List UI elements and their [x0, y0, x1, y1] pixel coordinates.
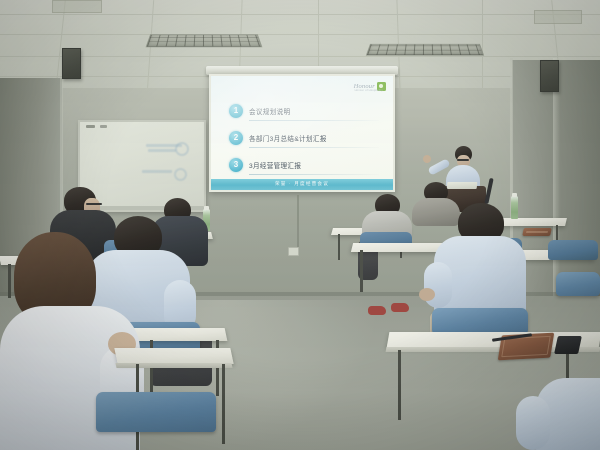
- wall-speaker-right-icon: [540, 60, 559, 92]
- agenda-item-1: 1 会议规划说明: [229, 104, 290, 118]
- wall-outlet: [288, 247, 299, 256]
- chair-front-right: [432, 308, 528, 334]
- attendee-back-right-torso: [412, 198, 460, 226]
- attendee-back-left-glasses: [86, 203, 102, 205]
- meeting-room-photo: Honour Honour of Hospitality 1 会议规划说明 2 …: [0, 0, 600, 450]
- agenda-item-3: 3 3月经营管理汇报: [229, 158, 301, 172]
- laptop: [447, 182, 478, 189]
- agenda-number-2: 2: [229, 131, 243, 145]
- attendee-mid-right-shoe-left: [368, 306, 386, 315]
- logo-tagline: Honour of Hospitality: [355, 89, 383, 92]
- ceiling-vent-right: [534, 10, 582, 24]
- whiteboard: [78, 120, 206, 212]
- agenda-item-2: 2 各部门3月总结&计划汇报: [229, 131, 327, 145]
- attendee-front-right-arm: [424, 262, 452, 308]
- whiteboard-marker-1: [86, 125, 95, 128]
- attendee-front-right-hand: [419, 288, 435, 301]
- chair-corner-right: [556, 272, 600, 296]
- attendee-mid-right-shoe-right: [391, 303, 409, 312]
- water-bottle-cap-left: [204, 206, 209, 210]
- water-bottle-far-right: [511, 196, 518, 219]
- wall-speaker-left-icon: [62, 48, 81, 79]
- smartphone: [554, 336, 582, 354]
- slide-footer-text: 荣誉 · 月度经营会议: [275, 181, 329, 187]
- agenda-text-2: 各部门3月总结&计划汇报: [249, 133, 327, 143]
- slide-footer-bar: 荣誉 · 月度经营会议: [211, 179, 393, 190]
- desk-mid-left: [131, 328, 228, 341]
- chair-front-left: [96, 392, 216, 432]
- agenda-number-3: 3: [229, 158, 243, 172]
- water-bottle-cap-far-right: [512, 193, 517, 197]
- projector-screen: Honour Honour of Hospitality 1 会议规划说明 2 …: [209, 74, 395, 192]
- ceiling-vent-left: [52, 0, 102, 13]
- desk-front-left: [114, 348, 233, 364]
- ceiling-light-left: [146, 34, 263, 47]
- hanging-cable: [297, 195, 299, 247]
- company-logo: Honour Honour of Hospitality: [354, 82, 386, 91]
- projected-slide: Honour Honour of Hospitality 1 会议规划说明 2 …: [211, 76, 393, 190]
- agenda-text-3: 3月经营管理汇报: [249, 160, 301, 170]
- agenda-number-1: 1: [229, 104, 243, 118]
- ceiling-light-right: [366, 44, 484, 56]
- whiteboard-marker-2: [100, 125, 107, 128]
- attendee-corner-right-arm: [516, 396, 550, 450]
- notebook-back-right: [522, 228, 552, 236]
- agenda-text-1: 会议规划说明: [249, 106, 290, 116]
- chair-back-right-2: [548, 240, 598, 260]
- presenter-glasses: [457, 159, 469, 161]
